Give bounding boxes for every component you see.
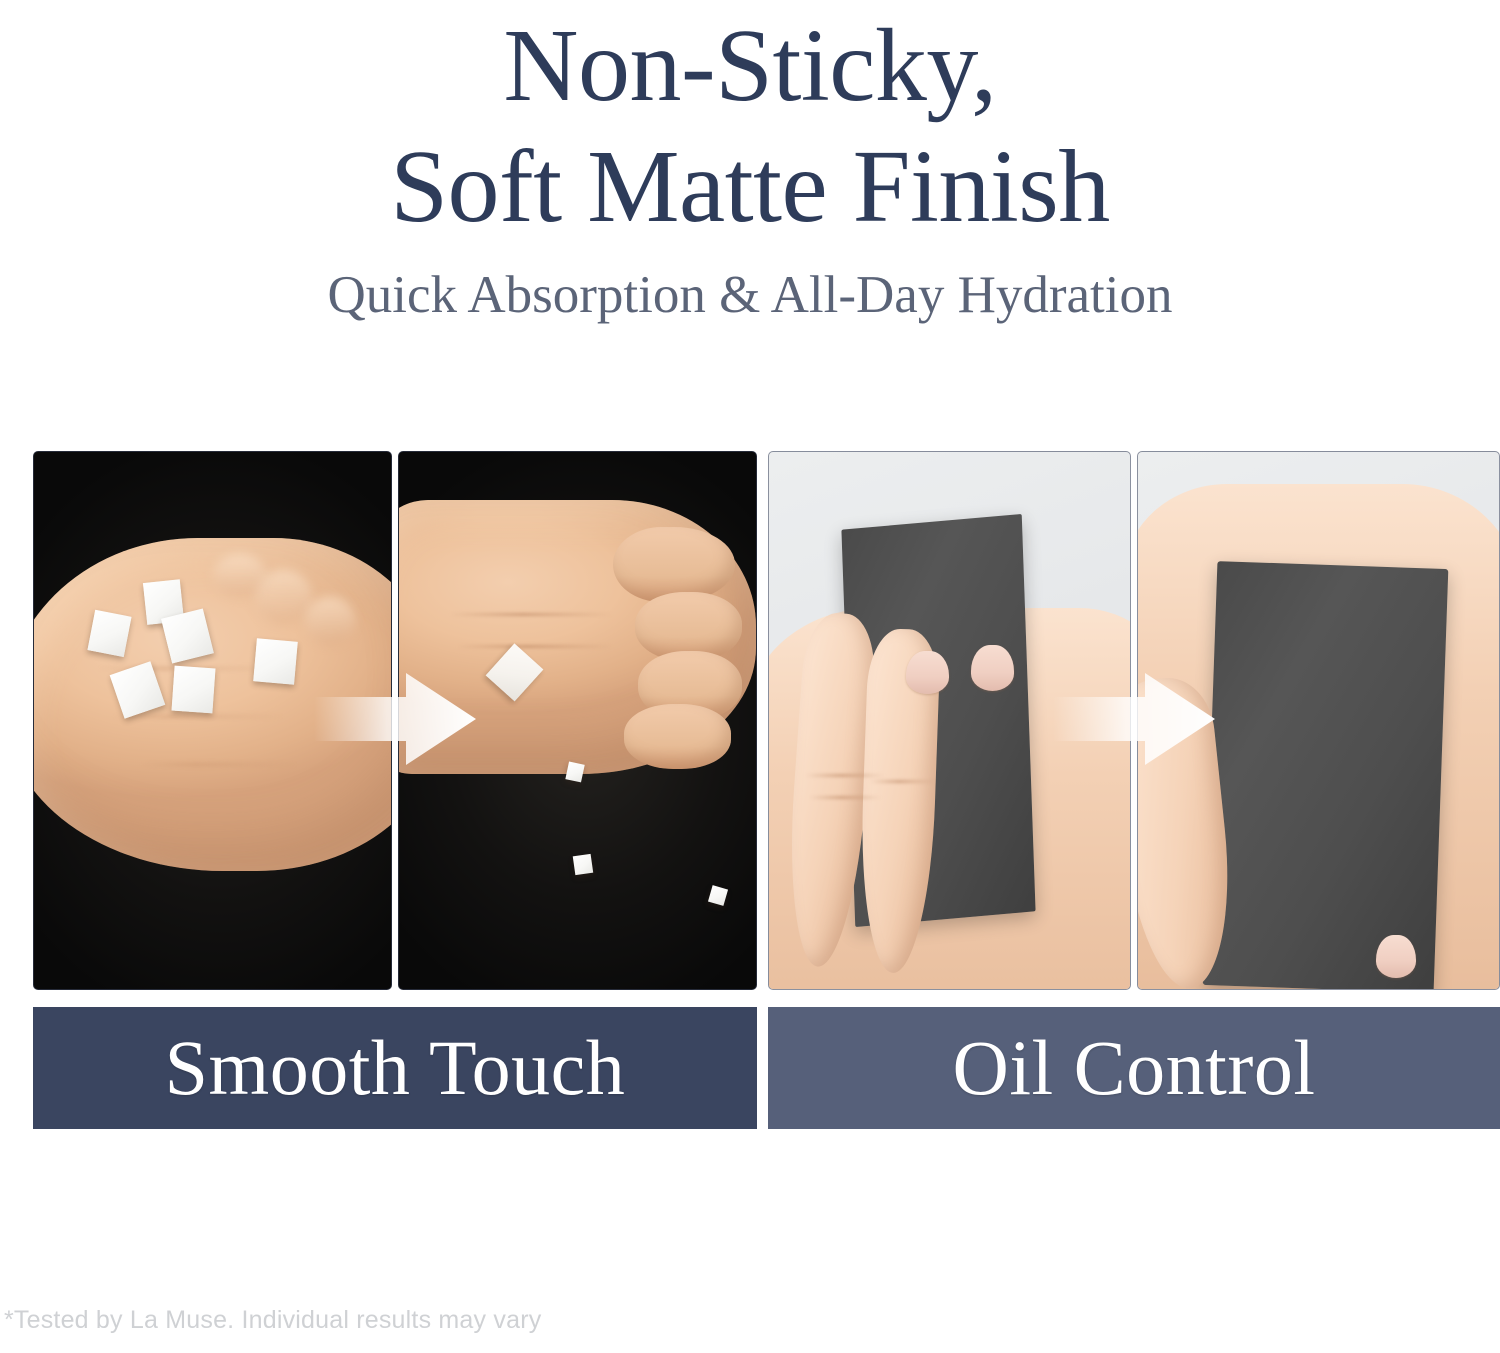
paper-square — [254, 638, 299, 684]
paper-square-fallen — [565, 762, 585, 783]
page-title: Non-Sticky, Soft Matte Finish — [0, 6, 1500, 247]
feature-label-text: Smooth Touch — [165, 1023, 626, 1113]
photo-smooth-touch-after — [398, 451, 757, 990]
fingernail — [971, 645, 1014, 691]
paper-square-fallen — [573, 854, 593, 876]
page-subtitle: Quick Absorption & All-Day Hydration — [0, 265, 1500, 325]
paper-square — [88, 610, 133, 657]
disclaimer-footnote: *Tested by La Muse. Individual results m… — [4, 1306, 541, 1335]
product-feature-banner: Non-Sticky, Soft Matte Finish Quick Abso… — [0, 0, 1500, 1353]
photo-smooth-touch-before — [33, 451, 392, 990]
fingernail — [906, 651, 949, 694]
headline-line-2: Soft Matte Finish — [0, 127, 1500, 248]
photo-row-smooth-touch — [33, 451, 757, 990]
blotting-paper-clean — [1203, 561, 1449, 990]
headline-line-1: Non-Sticky, — [0, 6, 1500, 127]
feature-label-smooth-touch: Smooth Touch — [33, 1007, 757, 1129]
photo-row-oil-control — [768, 451, 1500, 990]
feature-label-text: Oil Control — [952, 1023, 1315, 1113]
feature-panels: Smooth Touch — [0, 451, 1500, 1129]
feature-group-oil-control: Oil Control — [768, 451, 1500, 1129]
feature-label-oil-control: Oil Control — [768, 1007, 1500, 1129]
fingernail — [1376, 935, 1416, 978]
photo-oil-control-before — [768, 451, 1131, 990]
feature-group-smooth-touch: Smooth Touch — [33, 451, 757, 1129]
paper-square-fallen — [708, 885, 728, 906]
photo-oil-control-after — [1137, 451, 1500, 990]
paper-square — [172, 665, 216, 713]
